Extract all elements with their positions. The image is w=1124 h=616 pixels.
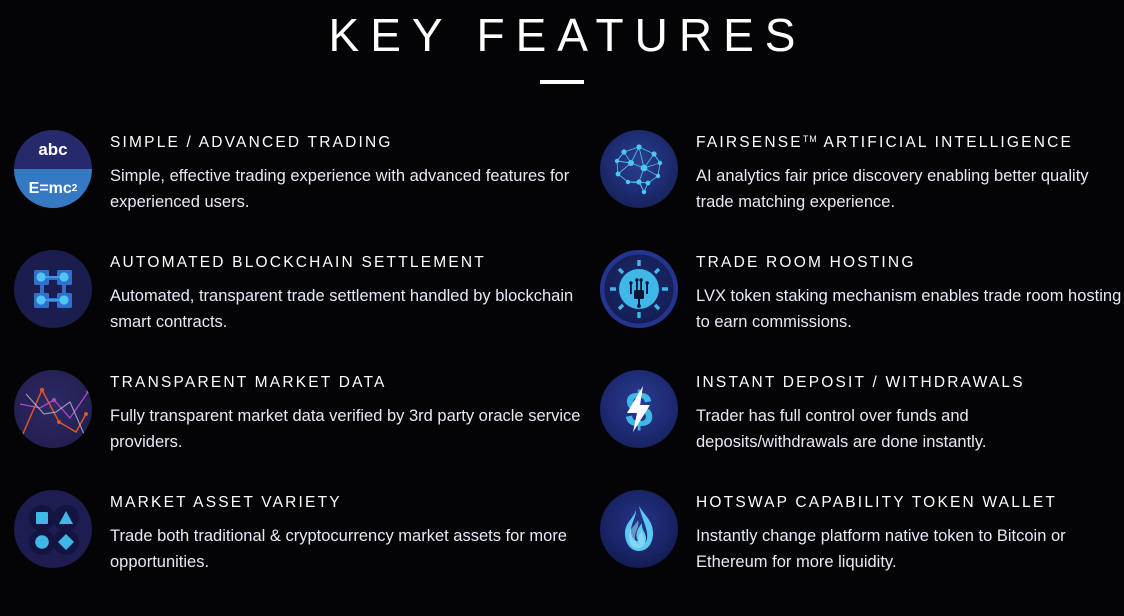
dollar-bolt-icon: $ xyxy=(600,370,678,448)
feature-fairsense-artificial-intelligence[interactable]: FAIRSENSETM ARTIFICIAL INTELLIGENCE AI a… xyxy=(600,126,1124,246)
abc-emc2-icon: abc E=mc2 xyxy=(14,130,92,208)
feature-title-main: FAIRSENSE xyxy=(696,134,803,151)
chip-hub-glyph xyxy=(600,250,678,328)
emc2-text: E=mc xyxy=(29,180,72,198)
line-chart-glyph xyxy=(14,370,92,448)
blockchain-nodes-glyph xyxy=(14,250,92,328)
feature-body: HOTSWAP CAPABILITY TOKEN WALLET Instantl… xyxy=(696,486,1124,575)
flame-glyph xyxy=(600,490,678,568)
feature-instant-deposit-withdrawals[interactable]: $ INSTANT DEPOSIT / WITHDRAWALS Trader h… xyxy=(600,366,1124,486)
feature-hotswap-capability-token-wallet[interactable]: HOTSWAP CAPABILITY TOKEN WALLET Instantl… xyxy=(600,486,1124,606)
feature-transparent-market-data[interactable]: TRANSPARENT MARKET DATA Fully transparen… xyxy=(14,366,600,486)
feature-title: SIMPLE / ADVANCED TRADING xyxy=(110,134,600,152)
feature-description: Fully transparent market data verified b… xyxy=(110,403,600,455)
blockchain-nodes-icon xyxy=(14,250,92,328)
feature-body: TRANSPARENT MARKET DATA Fully transparen… xyxy=(110,366,600,455)
feature-body: TRADE ROOM HOSTING LVX token staking mec… xyxy=(696,246,1124,335)
abc-icon-top-label: abc xyxy=(14,130,92,169)
flame-icon xyxy=(600,490,678,568)
feature-title-rest: ARTIFICIAL INTELLIGENCE xyxy=(818,134,1073,151)
feature-title: HOTSWAP CAPABILITY TOKEN WALLET xyxy=(696,494,1124,512)
trademark-mark: TM xyxy=(803,134,818,144)
feature-simple-advanced-trading[interactable]: abc E=mc2 SIMPLE / ADVANCED TRADING Simp… xyxy=(14,126,600,246)
feature-body: SIMPLE / ADVANCED TRADING Simple, effect… xyxy=(110,126,600,215)
feature-body: INSTANT DEPOSIT / WITHDRAWALS Trader has… xyxy=(696,366,1124,455)
asset-shapes-glyph xyxy=(14,490,92,568)
feature-market-asset-variety[interactable]: MARKET ASSET VARIETY Trade both traditio… xyxy=(14,486,600,606)
features-grid: abc E=mc2 SIMPLE / ADVANCED TRADING Simp… xyxy=(0,126,1124,606)
feature-body: AUTOMATED BLOCKCHAIN SETTLEMENT Automate… xyxy=(110,246,600,335)
title-divider xyxy=(540,80,584,84)
emc2-exponent: 2 xyxy=(72,183,78,194)
page-title: KEY FEATURES xyxy=(0,4,1124,66)
feature-title: TRADE ROOM HOSTING xyxy=(696,254,1124,272)
dollar-bolt-glyph: $ xyxy=(600,370,678,448)
chip-hub-icon xyxy=(600,250,678,328)
abc-icon-bottom-label: E=mc2 xyxy=(14,169,92,208)
feature-title: AUTOMATED BLOCKCHAIN SETTLEMENT xyxy=(110,254,600,272)
feature-title: MARKET ASSET VARIETY xyxy=(110,494,600,512)
feature-description: Instantly change platform native token t… xyxy=(696,523,1124,575)
brain-network-icon xyxy=(600,130,678,208)
feature-description: Trade both traditional & cryptocurrency … xyxy=(110,523,600,575)
feature-description: LVX token staking mechanism enables trad… xyxy=(696,283,1124,335)
feature-body: FAIRSENSETM ARTIFICIAL INTELLIGENCE AI a… xyxy=(696,126,1124,215)
feature-description: Automated, transparent trade settlement … xyxy=(110,283,600,335)
page-header: KEY FEATURES xyxy=(0,0,1124,84)
feature-trade-room-hosting[interactable]: TRADE ROOM HOSTING LVX token staking mec… xyxy=(600,246,1124,366)
feature-description: AI analytics fair price discovery enabli… xyxy=(696,163,1124,215)
feature-description: Trader has full control over funds and d… xyxy=(696,403,1124,455)
feature-title: FAIRSENSETM ARTIFICIAL INTELLIGENCE xyxy=(696,134,1124,152)
brain-network-glyph xyxy=(600,130,678,208)
line-chart-icon xyxy=(14,370,92,448)
feature-title: TRANSPARENT MARKET DATA xyxy=(110,374,600,392)
feature-body: MARKET ASSET VARIETY Trade both traditio… xyxy=(110,486,600,575)
feature-automated-blockchain-settlement[interactable]: AUTOMATED BLOCKCHAIN SETTLEMENT Automate… xyxy=(14,246,600,366)
feature-title: INSTANT DEPOSIT / WITHDRAWALS xyxy=(696,374,1124,392)
feature-description: Simple, effective trading experience wit… xyxy=(110,163,600,215)
asset-shapes-icon xyxy=(14,490,92,568)
